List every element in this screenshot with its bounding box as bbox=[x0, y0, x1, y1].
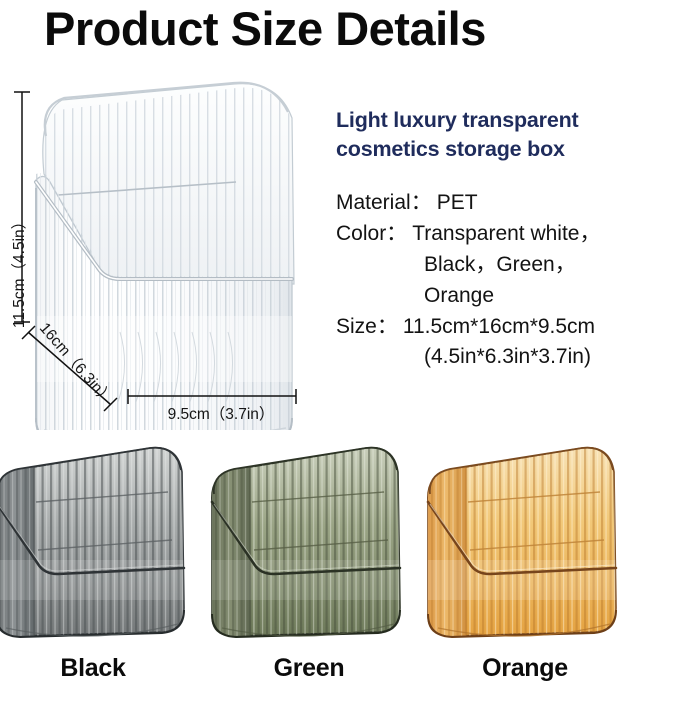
color-variants-row: Black bbox=[0, 432, 679, 702]
spec-value-color-2: Black，Green， bbox=[336, 250, 674, 281]
variant-orange: Orange bbox=[414, 432, 636, 702]
spec-key-color: Color： bbox=[336, 219, 407, 250]
spec-values-material: PET bbox=[432, 188, 674, 219]
spec-list: Material： PET Color： Transparent white， … bbox=[336, 188, 674, 373]
variant-black-label: Black bbox=[0, 654, 204, 683]
spec-row-size: Size： 11.5cm*16cm*9.5cm bbox=[336, 312, 674, 343]
spec-row-material: Material： PET bbox=[336, 188, 674, 219]
product-heading-line-2: cosmetics storage box bbox=[336, 135, 674, 164]
spec-value-size-1: 11.5cm*16cm*9.5cm bbox=[403, 315, 595, 338]
spec-values-size: 11.5cm*16cm*9.5cm bbox=[398, 312, 674, 343]
product-infographic: Product Size Details bbox=[0, 0, 679, 702]
variant-orange-illustration bbox=[414, 432, 636, 650]
spec-value-size-2: (4.5in*6.3in*3.7in) bbox=[336, 342, 674, 373]
spec-row-color: Color： Transparent white， bbox=[336, 219, 674, 250]
spec-value-color-1: Transparent white， bbox=[412, 222, 600, 245]
spec-key-material: Material： bbox=[336, 188, 432, 219]
product-heading: Light luxury transparent cosmetics stora… bbox=[336, 106, 674, 163]
variant-orange-label: Orange bbox=[414, 654, 636, 683]
page-title: Product Size Details bbox=[44, 2, 486, 56]
product-info-panel: Light luxury transparent cosmetics stora… bbox=[336, 106, 674, 373]
dimension-height-label: 11.5cm（4.5in） bbox=[7, 191, 29, 351]
variant-black-illustration bbox=[0, 432, 204, 650]
hero-product-diagram: 11.5cm（4.5in） 16cm（6.3in） 9.5cm（3.7in） bbox=[0, 70, 330, 430]
variant-green-illustration bbox=[198, 432, 420, 650]
variant-green: Green bbox=[198, 432, 420, 702]
dimension-width-label: 9.5cm（3.7in） bbox=[136, 402, 306, 424]
spec-values-color: Transparent white， bbox=[407, 219, 674, 250]
product-heading-line-1: Light luxury transparent bbox=[336, 106, 674, 135]
dimension-guides bbox=[0, 70, 330, 430]
variant-black: Black bbox=[0, 432, 204, 702]
variant-green-label: Green bbox=[198, 654, 420, 683]
spec-value-color-3: Orange bbox=[336, 281, 674, 312]
spec-value-material-1: PET bbox=[437, 191, 478, 214]
spec-key-size: Size： bbox=[336, 312, 398, 343]
